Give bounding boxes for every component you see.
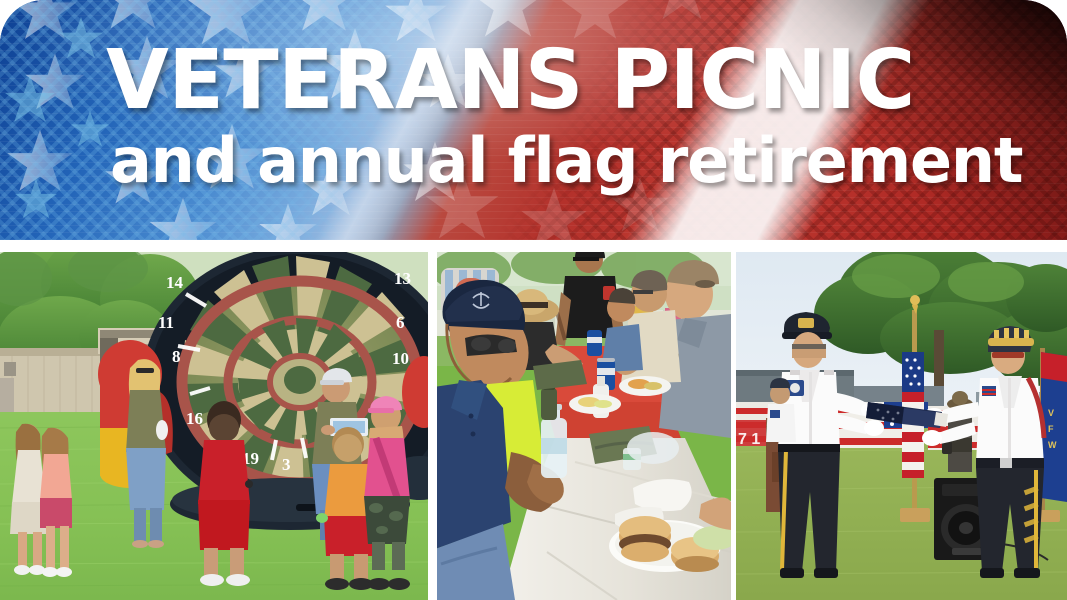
svg-text:7 1: 7 1 — [738, 431, 760, 448]
svg-text:V: V — [1048, 408, 1054, 418]
svg-text:8: 8 — [172, 347, 181, 366]
photo-inflatable-dart-board-game: 14 11 8 16 19 3 13 6 10 15 — [0, 252, 428, 600]
svg-text:W: W — [1048, 440, 1057, 450]
hamburger — [619, 516, 671, 562]
svg-text:6: 6 — [396, 313, 405, 332]
svg-text:F: F — [1048, 424, 1054, 434]
svg-text:10: 10 — [392, 349, 409, 368]
event-banner: VETERANS PICNIC and annual flag retireme… — [0, 0, 1067, 240]
svg-text:14: 14 — [166, 273, 184, 292]
photo-strip: 14 11 8 16 19 3 13 6 10 15 — [0, 252, 1067, 600]
svg-text:11: 11 — [158, 313, 174, 332]
photo-flag-retirement-ceremony: 7 1 — [736, 252, 1067, 600]
photo-picnic-table-meal — [437, 252, 731, 600]
svg-text:16: 16 — [186, 409, 203, 428]
svg-text:13: 13 — [394, 269, 411, 288]
corner-vignette-soft — [0, 0, 1067, 240]
veterans-picnic-flyer: VETERANS PICNIC and annual flag retireme… — [0, 0, 1067, 600]
svg-text:3: 3 — [282, 455, 291, 474]
